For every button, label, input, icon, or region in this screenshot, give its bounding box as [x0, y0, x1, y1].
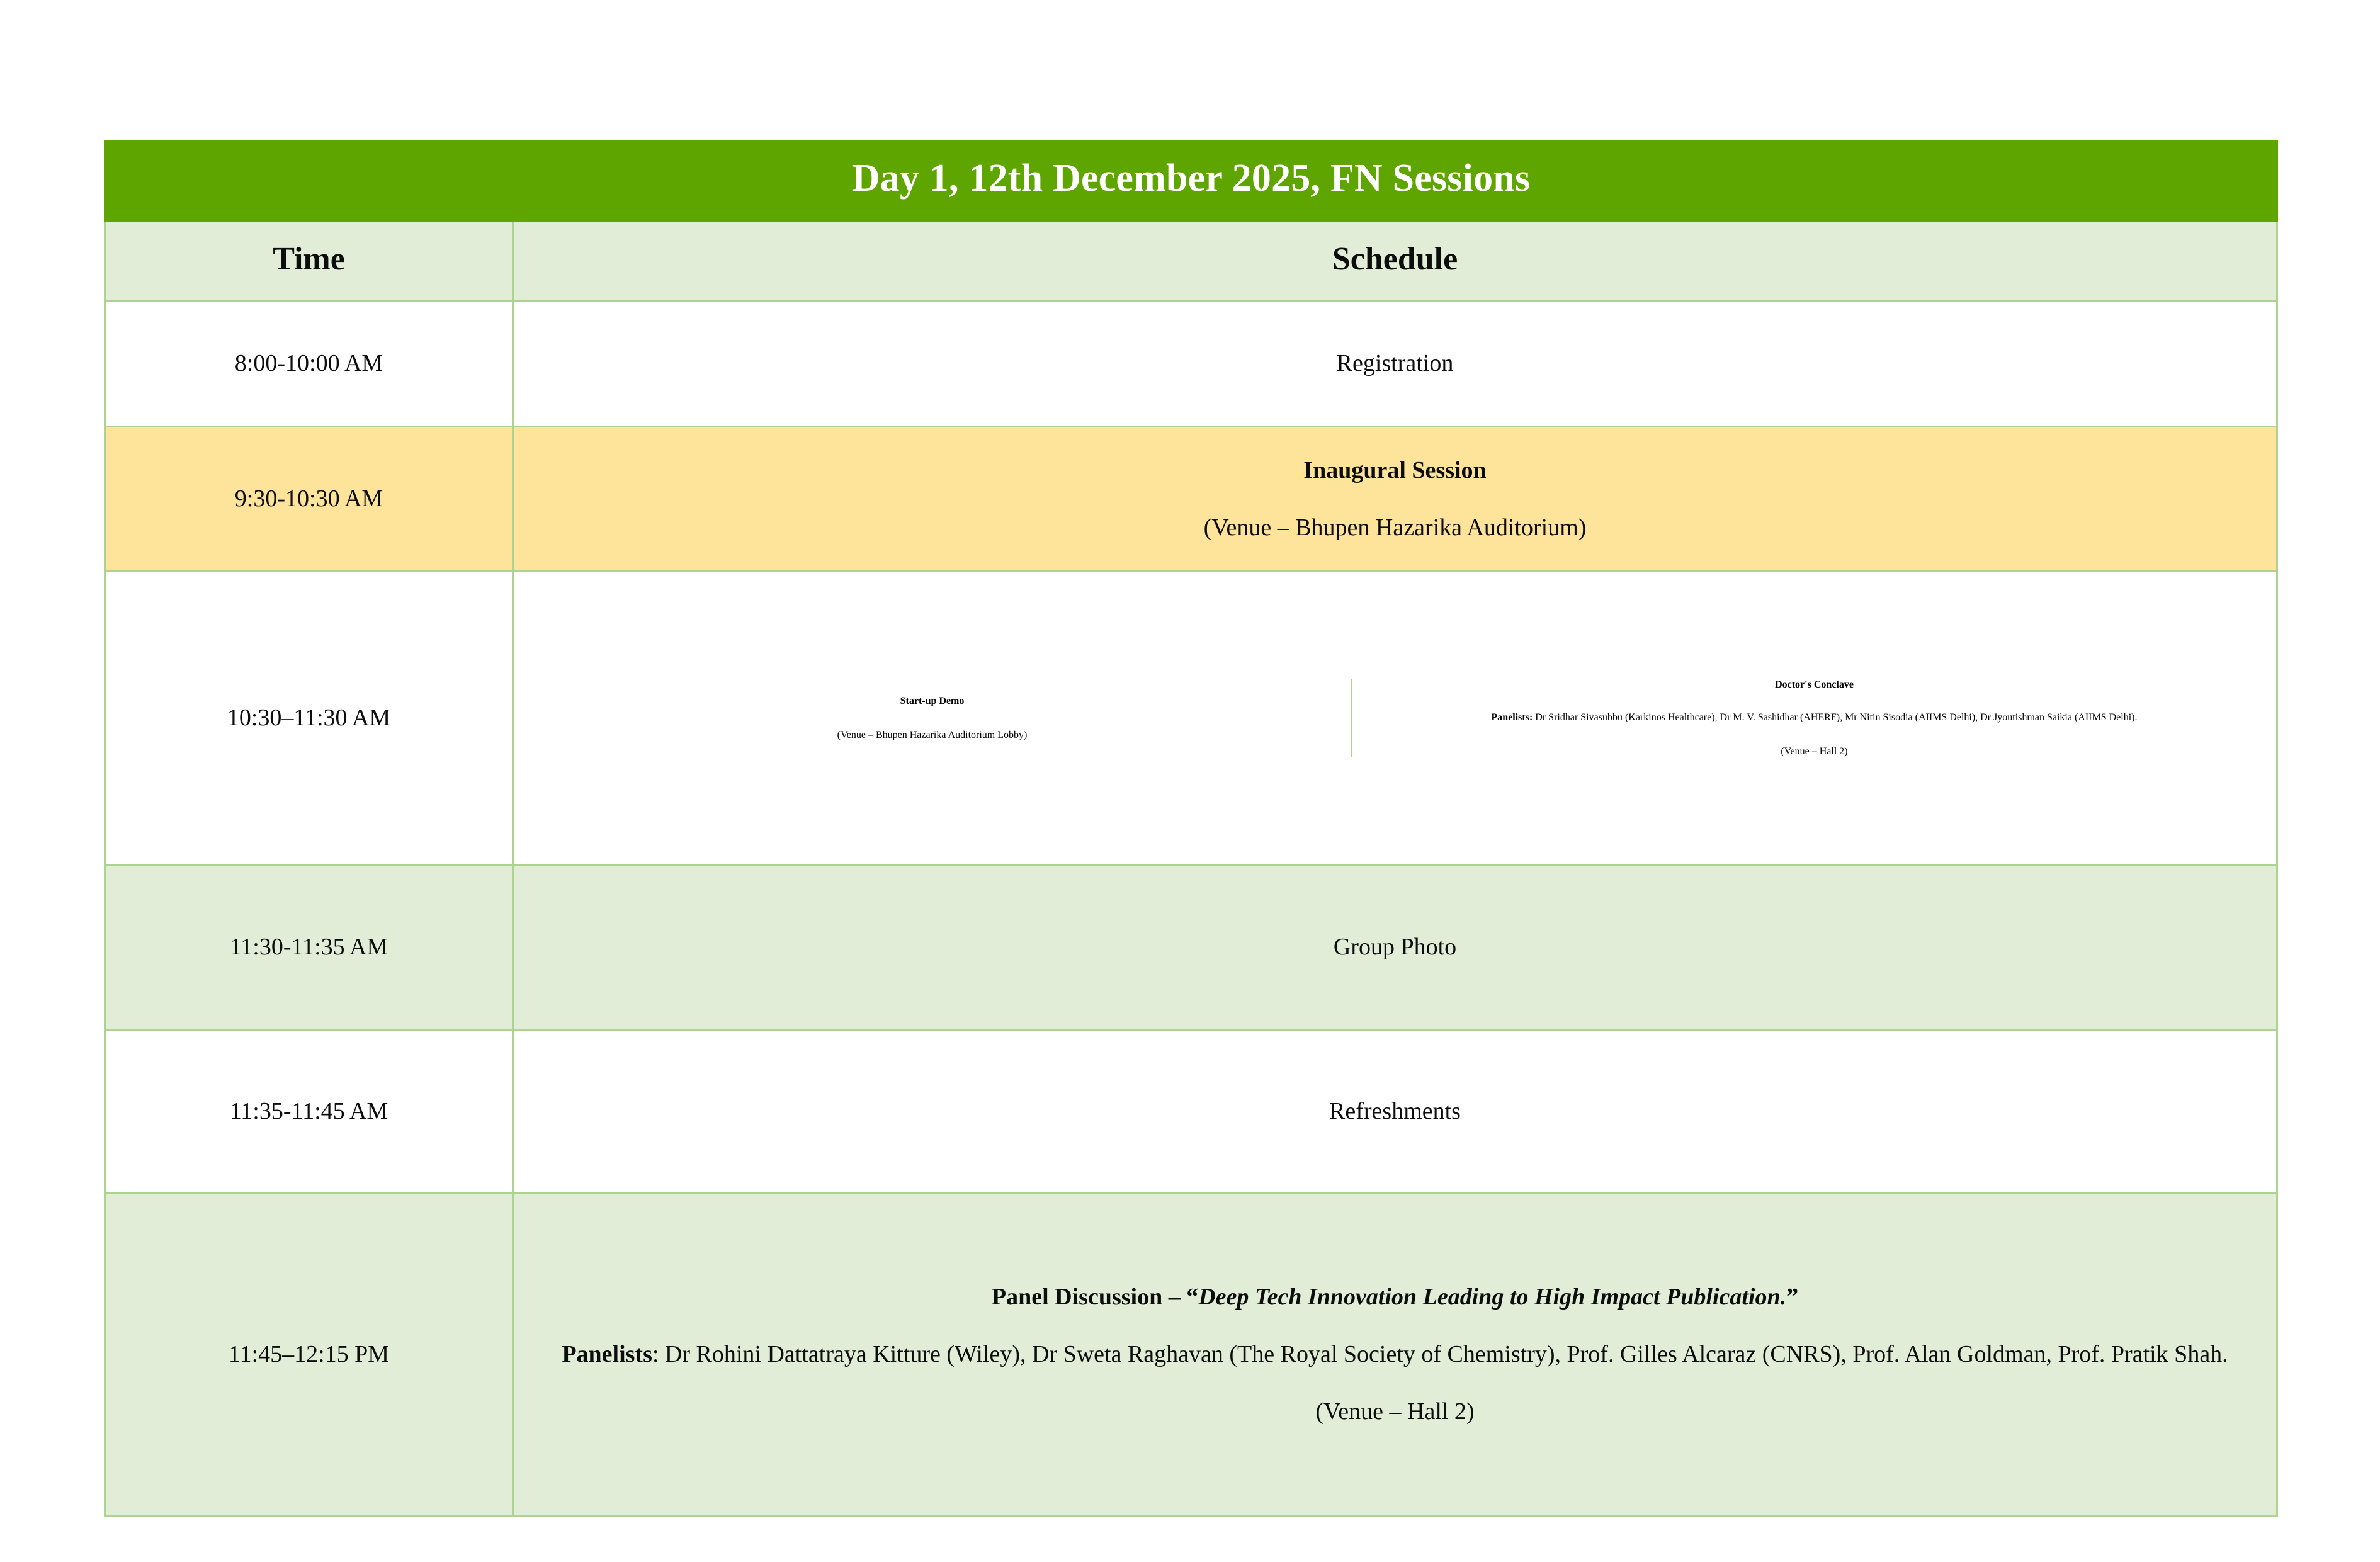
- time-cell-startup-demo: 10:30–11:30 AM: [105, 572, 513, 865]
- panelists-list-panel-discussion: : Dr Rohini Dattatraya Kitture (Wiley), …: [652, 1341, 2228, 1367]
- column-header-time-label: Time: [112, 241, 506, 277]
- session-startup-demo: Start-up Demo (Venue – Bhupen Hazarika A…: [514, 679, 1352, 757]
- split-session-table: Start-up Demo (Venue – Bhupen Hazarika A…: [514, 679, 2276, 757]
- schedule-cell-refreshments: Refreshments: [513, 1030, 2277, 1194]
- table-row-refreshments: 11:35-11:45 AM Refreshments: [105, 1030, 2277, 1194]
- session-venue-doctors-conclave: (Venue – Hall 2): [1352, 746, 2276, 757]
- session-venue-inaugural: (Venue – Bhupen Hazarika Auditorium): [514, 511, 2276, 545]
- time-cell-refreshments: 11:35-11:45 AM: [105, 1030, 513, 1194]
- schedule-cell-panel-discussion: Panel Discussion – “Deep Tech Innovation…: [513, 1194, 2277, 1516]
- column-header-schedule-label: Schedule: [520, 241, 2270, 277]
- schedule-cell-registration: Registration: [513, 301, 2277, 427]
- session-panelists-panel-discussion: Panelists: Dr Rohini Dattatraya Kitture …: [514, 1337, 2276, 1372]
- column-header-time: Time: [105, 222, 513, 301]
- table-header-row: Time Schedule: [105, 222, 2277, 301]
- session-venue-startup-demo: (Venue – Bhupen Hazarika Auditorium Lobb…: [514, 730, 1351, 741]
- session-panelists-doctors-conclave: Panelists: Dr Sridhar Sivasubbu (Karkino…: [1352, 712, 2276, 723]
- page-title: Day 1, 12th December 2025, FN Sessions: [112, 158, 2270, 199]
- schedule-table: Day 1, 12th December 2025, FN Sessions T…: [104, 140, 2278, 1517]
- time-cell-registration: 8:00-10:00 AM: [105, 301, 513, 427]
- session-title-doctors-conclave: Doctor's Conclave: [1352, 679, 2276, 691]
- session-venue-panel-discussion: (Venue – Hall 2): [514, 1395, 2276, 1429]
- table-row-registration: 8:00-10:00 AM Registration: [105, 301, 2277, 427]
- time-cell-inaugural-session: 9:30-10:30 AM: [105, 427, 513, 572]
- table-row-group-photo: 11:30-11:35 AM Group Photo: [105, 865, 2277, 1030]
- schedule-cell-group-photo: Group Photo: [513, 865, 2277, 1030]
- panelists-label-doctors-conclave: Panelists:: [1492, 712, 1533, 723]
- session-title-panel-discussion: Panel Discussion – “Deep Tech Innovation…: [514, 1280, 2276, 1315]
- time-cell-panel-discussion: 11:45–12:15 PM: [105, 1194, 513, 1516]
- panel-title-prefix: Panel Discussion – “: [992, 1284, 1198, 1310]
- schedule-cell-split: Start-up Demo (Venue – Bhupen Hazarika A…: [513, 572, 2277, 865]
- session-title-startup-demo: Start-up Demo: [514, 696, 1351, 707]
- time-cell-group-photo: 11:30-11:35 AM: [105, 865, 513, 1030]
- panelists-list-doctors-conclave: Dr Sridhar Sivasubbu (Karkinos Healthcar…: [1533, 712, 2137, 723]
- panelists-label-panel-discussion: Panelists: [562, 1341, 652, 1367]
- schedule-cell-inaugural-session: Inaugural Session (Venue – Bhupen Hazari…: [513, 427, 2277, 572]
- page-canvas: Day 1, 12th December 2025, FN Sessions T…: [0, 0, 2380, 1562]
- panel-title-suffix: ”: [1786, 1284, 1798, 1310]
- panel-title-italic: Deep Tech Innovation Leading to High Imp…: [1198, 1284, 1786, 1310]
- table-row-startup-demo-doctors-conclave: 10:30–11:30 AM Start-up Demo (Venue – Bh…: [105, 572, 2277, 865]
- table-row-inaugural-session: 9:30-10:30 AM Inaugural Session (Venue –…: [105, 427, 2277, 572]
- table-row-panel-discussion: 11:45–12:15 PM Panel Discussion – “Deep …: [105, 1194, 2277, 1516]
- session-title-inaugural: Inaugural Session: [514, 453, 2276, 488]
- table-title-row: Day 1, 12th December 2025, FN Sessions: [105, 141, 2277, 222]
- table-title-cell: Day 1, 12th December 2025, FN Sessions: [105, 141, 2277, 222]
- session-doctors-conclave: Doctor's Conclave Panelists: Dr Sridhar …: [1352, 679, 2277, 757]
- column-header-schedule: Schedule: [513, 222, 2277, 301]
